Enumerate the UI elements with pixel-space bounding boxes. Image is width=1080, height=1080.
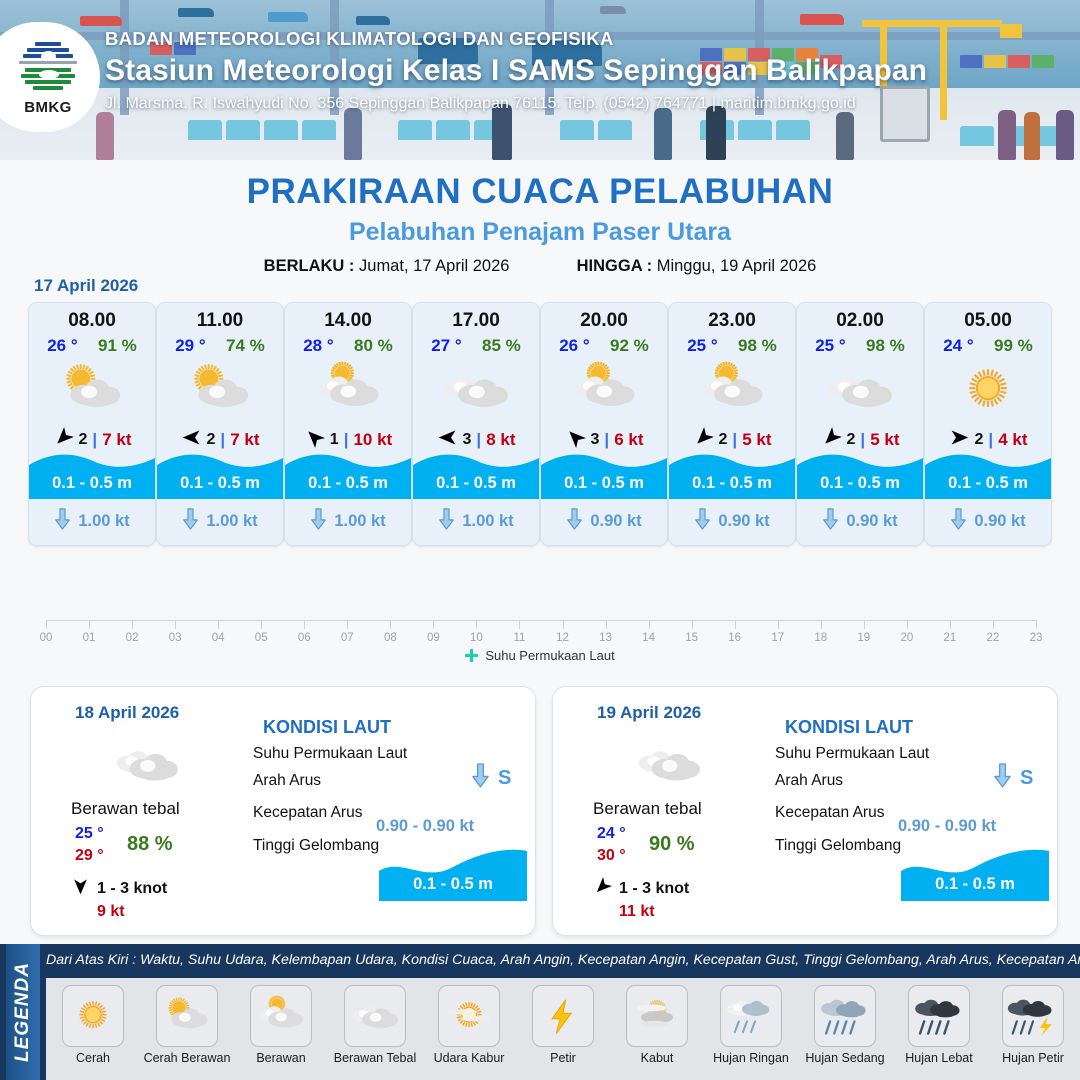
chart-tick	[304, 620, 305, 629]
person-icon	[706, 106, 726, 160]
bmkg-logo-mark	[19, 38, 77, 96]
wave-height: 0.1 - 0.5 m	[925, 474, 1051, 493]
daily-forecast-panel[interactable]: 18 April 2026 Berawan tebal 25 ° 29 ° 88…	[30, 686, 536, 936]
card-humidity: 85 %	[482, 336, 521, 356]
legend-icon-strip: Cerah Cerah Berawan Berawan	[46, 978, 1080, 1080]
berawan-icon	[250, 985, 312, 1047]
card-temp-humidity: 26 ° 91 %	[29, 336, 155, 356]
panel-current-direction: S	[471, 763, 511, 793]
legend-item-label: Cerah	[46, 1051, 140, 1065]
wave-height: 0.1 - 0.5 m	[29, 474, 155, 493]
station-address: Jl. Marsma. R. Iswahyudi No. 356 Sepingg…	[105, 95, 1055, 113]
person-icon	[998, 110, 1016, 160]
wave-height: 0.1 - 0.5 m	[797, 474, 923, 493]
chart-tick	[950, 620, 951, 629]
card-temp-humidity: 26 ° 92 %	[541, 336, 667, 356]
chart-tick	[132, 620, 133, 629]
panel-temp-max: 30 °	[597, 847, 626, 865]
chart-tick	[261, 620, 262, 629]
panel-wave-height: 0.1 - 0.5 m	[379, 875, 527, 894]
sea-condition-title: KONDISI LAUT	[263, 717, 391, 738]
card-temp-humidity: 27 ° 85 %	[413, 336, 539, 356]
chart-tick-label: 18	[814, 632, 827, 644]
chart-tick-label: 17	[771, 632, 784, 644]
chart-tick-label: 14	[642, 632, 655, 644]
card-time: 20.00	[541, 310, 667, 332]
chart-tick-label: 13	[599, 632, 612, 644]
hujan-ringan-icon	[720, 985, 782, 1047]
berawan-icon	[541, 358, 667, 422]
chart-tick	[907, 620, 908, 629]
current-direction-arrow-icon	[471, 763, 490, 793]
card-current: 0.90 kt	[797, 508, 923, 535]
panel-date: 19 April 2026	[597, 703, 701, 723]
legend-item-label: Udara Kabur	[422, 1051, 516, 1065]
current-speed: 1.00 kt	[206, 512, 257, 531]
chart-tick	[864, 620, 865, 629]
berawan-tebal-icon	[413, 358, 539, 422]
agency-name: BADAN METEOROLOGI KLIMATOLOGI DAN GEOFIS…	[105, 28, 1055, 50]
legend-item-label: Berawan Tebal	[328, 1051, 422, 1065]
card-current: 0.90 kt	[541, 508, 667, 535]
chart-tick-label: 16	[728, 632, 741, 644]
panel-wind-range: 1 - 3 knot	[619, 880, 689, 898]
kabut-icon	[626, 985, 688, 1047]
seat-icon	[776, 120, 810, 140]
card-time: 02.00	[797, 310, 923, 332]
legend-item: Hujan Lebat	[892, 978, 986, 1065]
card-current: 0.90 kt	[925, 508, 1051, 535]
current-speed: 1.00 kt	[462, 512, 513, 531]
valid-from-value: Jumat, 17 April 2026	[359, 257, 509, 275]
chart-tick	[563, 620, 564, 629]
berawan-tebal-icon	[797, 358, 923, 422]
card-time: 11.00	[157, 310, 283, 332]
chart-tick-label: 22	[987, 632, 1000, 644]
card-temp-humidity: 24 ° 99 %	[925, 336, 1051, 356]
current-direction-arrow-icon	[694, 508, 711, 535]
ship-icon	[600, 6, 626, 14]
card-temperature: 24 °	[943, 336, 973, 356]
card-temperature: 25 °	[815, 336, 845, 356]
legend-item-label: Hujan Ringan	[704, 1051, 798, 1065]
card-humidity: 98 %	[866, 336, 905, 356]
chart-tick-label: 08	[384, 632, 397, 644]
valid-until-label: HINGGA :	[577, 257, 652, 275]
person-icon	[96, 112, 114, 160]
daily-panel-list: 18 April 2026 Berawan tebal 25 ° 29 ° 88…	[30, 686, 1058, 936]
current-direction-arrow-icon	[950, 508, 967, 535]
chart-tick-label: 00	[40, 632, 53, 644]
hourly-card[interactable]: 14.00 28 ° 80 % 1 | 10 kt 0.1 - 0.5 m 1.	[284, 302, 412, 546]
card-temperature: 27 °	[431, 336, 461, 356]
card-current: 1.00 kt	[285, 508, 411, 535]
chart-tick-label: 02	[126, 632, 139, 644]
station-name: Stasiun Meteorologi Kelas I SAMS Sepingg…	[105, 54, 1055, 88]
chart-tick-label: 09	[427, 632, 440, 644]
sst-legend-label: Suhu Permukaan Laut	[485, 648, 614, 663]
hourly-day-label: 17 April 2026	[34, 276, 138, 296]
chart-tick	[390, 620, 391, 629]
card-humidity: 99 %	[994, 336, 1033, 356]
panel-temp-min: 24 °	[597, 825, 626, 843]
panel-temp-max: 29 °	[75, 847, 104, 865]
legend-item: Hujan Ringan	[704, 978, 798, 1065]
hourly-card[interactable]: 23.00 25 ° 98 % 2 | 5 kt 0.1 - 0.5 m 0.9	[668, 302, 796, 546]
chart-tick-label: 05	[255, 632, 268, 644]
valid-until-value: Minggu, 19 April 2026	[657, 257, 817, 275]
legend-item: Berawan	[234, 978, 328, 1065]
ship-icon	[800, 14, 844, 25]
title-block: PRAKIRAAN CUACA PELABUHAN Pelabuhan Pena…	[0, 160, 1080, 276]
chart-tick-label: 21	[944, 632, 957, 644]
validity-row: BERLAKU : Jumat, 17 April 2026 HINGGA : …	[0, 257, 1080, 276]
current-direction-arrow-icon	[822, 508, 839, 535]
ship-icon	[356, 16, 390, 25]
crane-icon	[862, 20, 1002, 27]
current-direction-arrow-icon	[566, 508, 583, 535]
current-direction-arrow-icon	[182, 508, 199, 535]
card-temp-humidity: 29 ° 74 %	[157, 336, 283, 356]
berawan-tebal-icon	[109, 735, 185, 798]
infographic-page: BMKG BADAN METEOROLOGI KLIMATOLOGI DAN G…	[0, 0, 1080, 1080]
chart-tick-label: 04	[212, 632, 225, 644]
valid-from-label: BERLAKU :	[264, 257, 355, 275]
wind-direction-arrow-icon	[71, 877, 90, 901]
card-current: 1.00 kt	[157, 508, 283, 535]
panel-date: 18 April 2026	[75, 703, 179, 723]
card-current: 1.00 kt	[29, 508, 155, 535]
legend-item-label: Cerah Berawan	[140, 1051, 234, 1065]
card-humidity: 74 %	[226, 336, 265, 356]
current-speed-label: Kecepatan Arus	[775, 804, 884, 822]
card-temperature: 26 °	[559, 336, 589, 356]
berawan-tebal-icon	[344, 985, 406, 1047]
chart-tick	[606, 620, 607, 629]
chart-tick-label: 19	[857, 632, 870, 644]
panel-temp-min: 25 °	[75, 825, 104, 843]
legend-side-label: LEGENDA	[6, 944, 40, 1080]
cerah-berawan-icon	[156, 985, 218, 1047]
sea-condition-title: KONDISI LAUT	[785, 717, 913, 738]
chart-tick-label: 07	[341, 632, 354, 644]
berawan-tebal-icon	[631, 735, 707, 798]
chart-tick	[476, 620, 477, 629]
chart-tick-label: 11	[513, 632, 525, 644]
wave-height: 0.1 - 0.5 m	[285, 474, 411, 493]
hujan-petir-icon	[1002, 985, 1064, 1047]
card-time: 17.00	[413, 310, 539, 332]
panel-wind-range: 1 - 3 knot	[97, 880, 167, 898]
card-temperature: 29 °	[175, 336, 205, 356]
chart-tick	[649, 620, 650, 629]
legend-item: Kabut	[610, 978, 704, 1065]
legend-note: Dari Atas Kiri : Waktu, Suhu Udara, Kele…	[46, 952, 1080, 968]
panel-wind: 1 - 3 knot	[593, 877, 689, 901]
chart-tick	[218, 620, 219, 629]
panel-current-direction: S	[993, 763, 1033, 793]
legend-section: LEGENDA Dari Atas Kiri : Waktu, Suhu Uda…	[0, 944, 1080, 1080]
current-direction-arrow-icon	[993, 763, 1012, 793]
sst-label: Suhu Permukaan Laut	[775, 745, 929, 763]
current-speed: 1.00 kt	[78, 512, 129, 531]
card-humidity: 80 %	[354, 336, 393, 356]
chart-tick-label: 01	[83, 632, 96, 644]
panel-gust: 11 kt	[619, 903, 655, 921]
chart-tick	[993, 620, 994, 629]
hujan-sedang-icon	[814, 985, 876, 1047]
chart-tick	[175, 620, 176, 629]
panel-current-speed: 0.90 - 0.90 kt	[376, 817, 474, 836]
card-humidity: 92 %	[610, 336, 649, 356]
card-temperature: 26 °	[47, 336, 77, 356]
seat-icon	[398, 120, 432, 140]
chart-tick-label: 12	[556, 632, 569, 644]
current-direction-arrow-icon	[54, 508, 71, 535]
chart-tick-label: 15	[685, 632, 698, 644]
card-current: 0.90 kt	[669, 508, 795, 535]
chart-tick	[89, 620, 90, 629]
panel-gust: 9 kt	[97, 903, 125, 921]
card-temp-humidity: 28 ° 80 %	[285, 336, 411, 356]
berawan-icon	[285, 358, 411, 422]
legend-item-label: Hujan Lebat	[892, 1051, 986, 1065]
current-speed: 0.90 kt	[974, 512, 1025, 531]
panel-condition: Berawan tebal	[71, 799, 180, 819]
chart-tick	[347, 620, 348, 629]
seat-icon	[188, 120, 222, 140]
sst-chart: 0001020304050607080910111213141516171819…	[28, 560, 1052, 670]
chart-legend: Suhu Permukaan Laut	[28, 648, 1052, 663]
chart-tick	[778, 620, 779, 629]
chart-tick	[46, 620, 47, 629]
hourly-card[interactable]: 11.00 29 ° 74 % 2 | 7 kt 0.1 - 0.5 m 1.0…	[156, 302, 284, 546]
card-time: 23.00	[669, 310, 795, 332]
wave-height: 0.1 - 0.5 m	[157, 474, 283, 493]
panel-wind: 1 - 3 knot	[71, 877, 167, 901]
card-time: 08.00	[29, 310, 155, 332]
sst-legend-marker	[465, 649, 478, 662]
seat-icon	[598, 120, 632, 140]
seat-icon	[302, 120, 336, 140]
card-humidity: 91 %	[98, 336, 137, 356]
chart-tick-label: 06	[298, 632, 311, 644]
hourly-card[interactable]: 02.00 25 ° 98 % 2 | 5 kt 0.1 - 0.5 m 0.9	[796, 302, 924, 546]
udara-kabur-icon	[438, 985, 500, 1047]
wave-height: 0.1 - 0.5 m	[413, 474, 539, 493]
seat-icon	[226, 120, 260, 140]
wave-height-label: Tinggi Gelombang	[253, 837, 379, 855]
hourly-card[interactable]: 08.00 26 ° 91 % 2 | 7 kt 0.1 - 0.5 m 1.0…	[28, 302, 156, 546]
person-icon	[344, 108, 362, 160]
legend-item: Berawan Tebal	[328, 978, 422, 1065]
chart-tick	[433, 620, 434, 629]
ship-icon	[268, 12, 308, 22]
legend-item: Cerah	[46, 978, 140, 1065]
legend-item-label: Petir	[516, 1051, 610, 1065]
daily-forecast-panel[interactable]: 19 April 2026 Berawan tebal 24 ° 30 ° 90…	[552, 686, 1058, 936]
person-icon	[1024, 112, 1040, 160]
current-direction-value: S	[498, 767, 511, 790]
header-banner: BMKG BADAN METEOROLOGI KLIMATOLOGI DAN G…	[0, 0, 1080, 160]
chart-tick-label: 03	[169, 632, 182, 644]
current-speed: 1.00 kt	[334, 512, 385, 531]
legend-item: Petir	[516, 978, 610, 1065]
chart-tick	[735, 620, 736, 629]
current-direction-arrow-icon	[310, 508, 327, 535]
panel-humidity: 90 %	[649, 833, 695, 856]
panel-wave-height: 0.1 - 0.5 m	[901, 875, 1049, 894]
person-icon	[654, 108, 672, 160]
panel-condition: Berawan tebal	[593, 799, 702, 819]
person-icon	[1056, 110, 1074, 160]
legend-item-label: Kabut	[610, 1051, 704, 1065]
legend-item: Udara Kabur	[422, 978, 516, 1065]
current-direction-label: Arah Arus	[775, 772, 843, 790]
card-time: 05.00	[925, 310, 1051, 332]
legend-item: Cerah Berawan	[140, 978, 234, 1065]
current-speed: 0.90 kt	[846, 512, 897, 531]
cerah-icon	[925, 358, 1051, 422]
page-subtitle: Pelabuhan Penajam Paser Utara	[0, 218, 1080, 247]
wave-height-label: Tinggi Gelombang	[775, 837, 901, 855]
chart-tick-label: 20	[900, 632, 913, 644]
cerah-berawan-icon	[157, 358, 283, 422]
legend-item: Hujan Petir	[986, 978, 1080, 1065]
hujan-lebat-icon	[908, 985, 970, 1047]
chart-tick-label: 23	[1030, 632, 1043, 644]
chart-tick	[519, 620, 520, 629]
current-direction-label: Arah Arus	[253, 772, 321, 790]
seat-icon	[264, 120, 298, 140]
panel-current-speed: 0.90 - 0.90 kt	[898, 817, 996, 836]
card-temp-humidity: 25 ° 98 %	[797, 336, 923, 356]
cerah-berawan-icon	[29, 358, 155, 422]
hourly-card[interactable]: 17.00 27 ° 85 % 3 | 8 kt 0.1 - 0.5 m 1.0	[412, 302, 540, 546]
page-title: PRAKIRAAN CUACA PELABUHAN	[0, 172, 1080, 212]
card-time: 14.00	[285, 310, 411, 332]
card-temperature: 25 °	[687, 336, 717, 356]
wind-direction-arrow-icon	[593, 877, 612, 901]
current-speed: 0.90 kt	[590, 512, 641, 531]
chart-tick	[692, 620, 693, 629]
seat-icon	[960, 126, 994, 146]
seat-icon	[436, 120, 470, 140]
cerah-icon	[62, 985, 124, 1047]
sst-label: Suhu Permukaan Laut	[253, 745, 407, 763]
current-direction-arrow-icon	[438, 508, 455, 535]
chart-tick-label: 10	[470, 632, 483, 644]
berawan-icon	[669, 358, 795, 422]
chart-tick	[1036, 620, 1037, 629]
panel-humidity: 88 %	[127, 833, 173, 856]
wave-height: 0.1 - 0.5 m	[669, 474, 795, 493]
card-temperature: 28 °	[303, 336, 333, 356]
legend-item: Hujan Sedang	[798, 978, 892, 1065]
current-speed-label: Kecepatan Arus	[253, 804, 362, 822]
current-speed: 0.90 kt	[718, 512, 769, 531]
legend-item-label: Berawan	[234, 1051, 328, 1065]
person-icon	[836, 112, 854, 160]
card-temp-humidity: 25 ° 98 %	[669, 336, 795, 356]
hourly-card-list: 08.00 26 ° 91 % 2 | 7 kt 0.1 - 0.5 m 1.0…	[28, 302, 1052, 546]
legend-item-label: Hujan Petir	[986, 1051, 1080, 1065]
seat-icon	[560, 120, 594, 140]
hourly-card[interactable]: 05.00 24 ° 99 % 2 | 4 kt 0.1 - 0.5 m 0.9…	[924, 302, 1052, 546]
legend-item-label: Hujan Sedang	[798, 1051, 892, 1065]
bmkg-logo-text: BMKG	[24, 99, 71, 116]
ship-icon	[80, 16, 122, 26]
ship-icon	[178, 8, 214, 17]
hourly-card[interactable]: 20.00 26 ° 92 % 3 | 6 kt 0.1 - 0.5 m 0.9	[540, 302, 668, 546]
petir-icon	[532, 985, 594, 1047]
header-text-block: BADAN METEOROLOGI KLIMATOLOGI DAN GEOFIS…	[105, 28, 1055, 113]
wave-height: 0.1 - 0.5 m	[541, 474, 667, 493]
current-direction-value: S	[1020, 767, 1033, 790]
card-humidity: 98 %	[738, 336, 777, 356]
chart-x-ticks: 0001020304050607080910111213141516171819…	[46, 620, 1036, 650]
chart-tick	[821, 620, 822, 629]
seat-icon	[738, 120, 772, 140]
card-current: 1.00 kt	[413, 508, 539, 535]
